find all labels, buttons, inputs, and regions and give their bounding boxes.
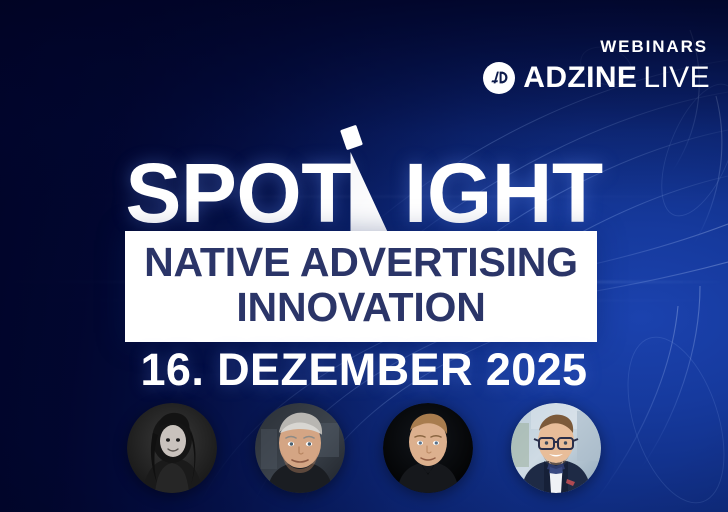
page-title: SPOT IGHT: [0, 152, 728, 234]
brand-kicker: WEBINARS: [482, 38, 708, 55]
avatar[interactable]: [255, 403, 345, 493]
subtitle-banner: NATIVE ADVERTISING INNOVATION: [125, 231, 597, 342]
headline-part-1: SPOT: [125, 151, 352, 235]
subtitle-line-1: NATIVE ADVERTISING: [125, 240, 597, 285]
brand-wordmark: ADZINELIVE: [523, 63, 710, 93]
headline-part-2: IGHT: [404, 151, 603, 235]
speaker-avatar-row: [0, 403, 728, 493]
brand-logo-row: ADZINELIVE: [482, 61, 710, 95]
brand-lockup: WEBINARS ADZINELIVE: [482, 38, 710, 95]
brand-suffix: LIVE: [643, 61, 710, 94]
event-date: 16. DEZEMBER 2025: [0, 347, 728, 392]
subtitle-line-2: INNOVATION: [125, 285, 597, 330]
avatar[interactable]: [127, 403, 217, 493]
adzine-circle-ad-monogram-icon: [482, 61, 516, 95]
avatar[interactable]: [383, 403, 473, 493]
brand-name: ADZINE: [523, 61, 637, 94]
avatar[interactable]: [511, 403, 601, 493]
webinar-promo-poster: WEBINARS ADZINELIVE SPOT IGHT: [0, 0, 728, 512]
